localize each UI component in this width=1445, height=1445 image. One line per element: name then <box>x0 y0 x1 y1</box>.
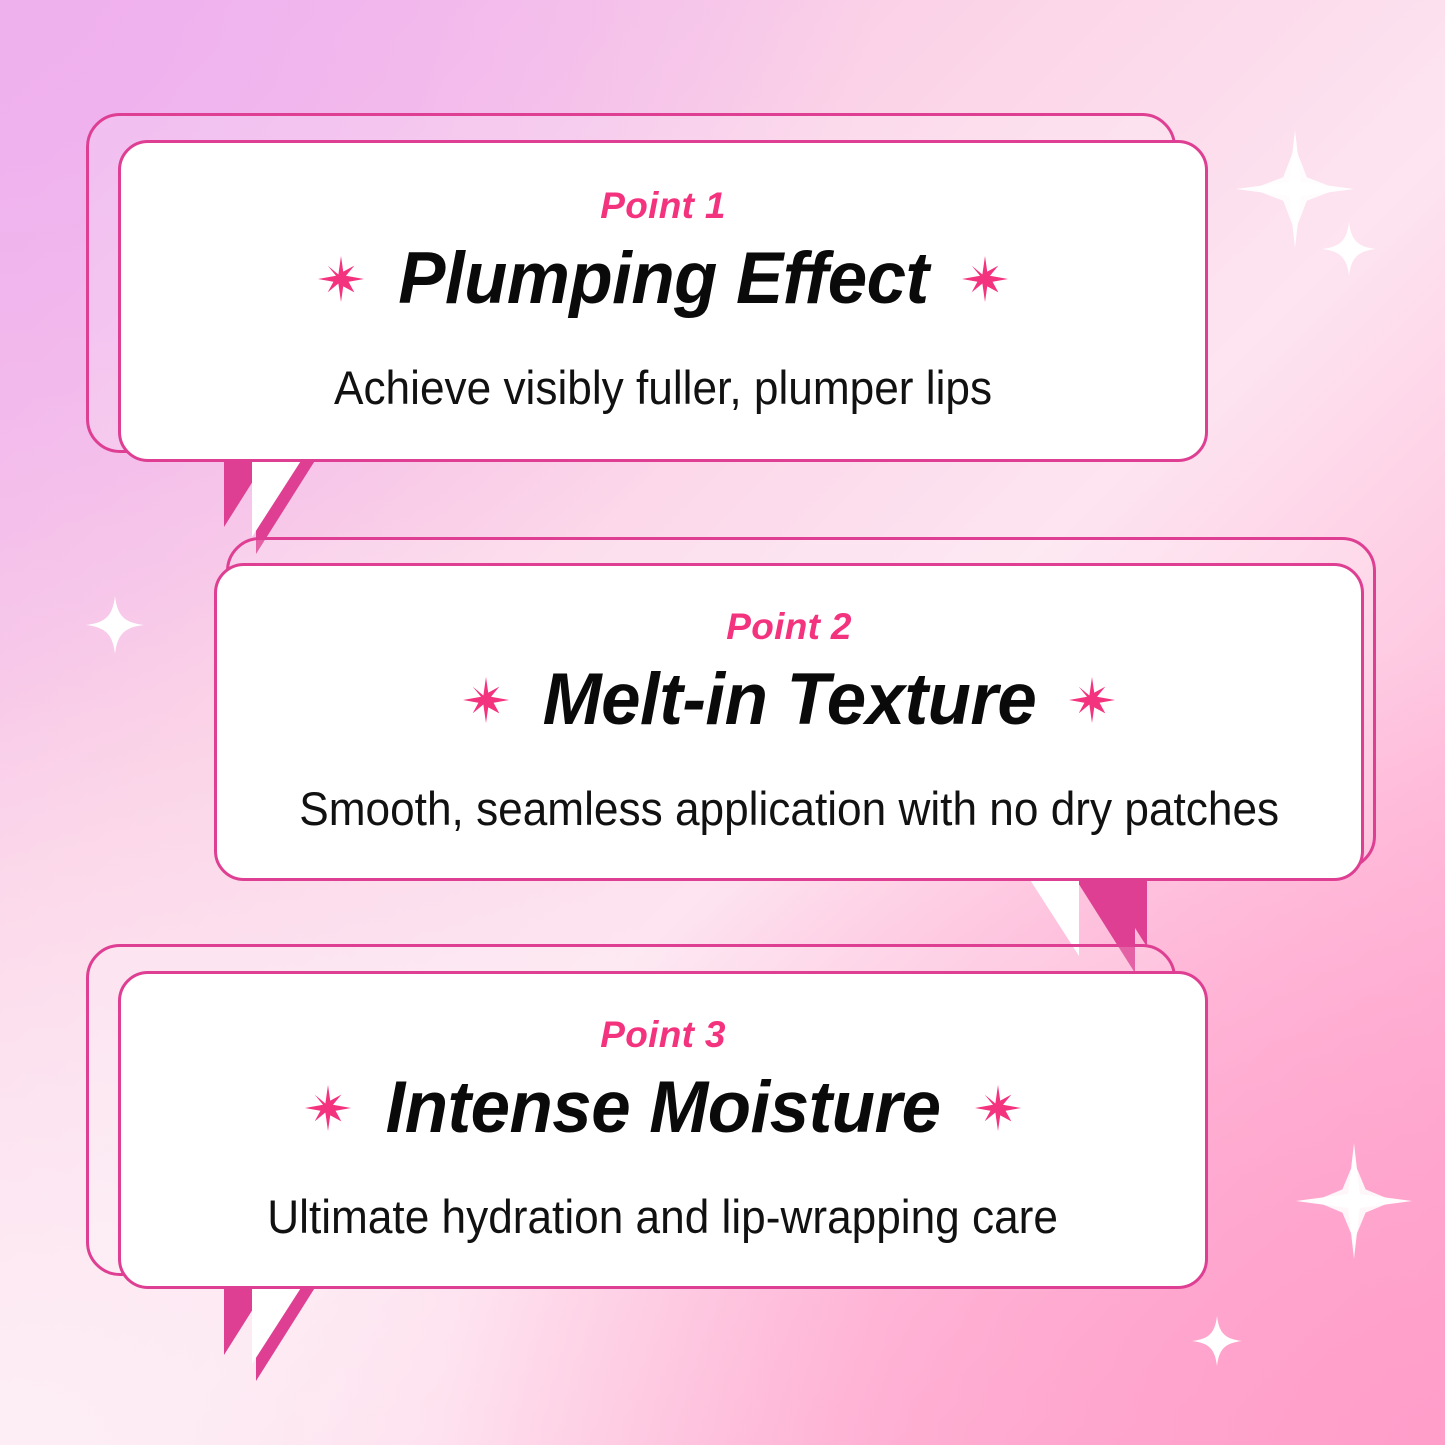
sparkle-icon <box>463 677 509 723</box>
card-2-headline-row: Melt-in Texture <box>463 662 1116 739</box>
sparkle-icon <box>975 1085 1021 1131</box>
card-1-body[interactable]: Point 1 Plumping Effect Achieve visibly … <box>118 140 1208 462</box>
card-3-headline: Intense Moisture <box>386 1070 941 1147</box>
card-3-point-label: Point 3 <box>600 1016 725 1053</box>
card-1-point-label: Point 1 <box>600 187 725 224</box>
sparkle-icon <box>305 1085 351 1131</box>
card-1-headline: Plumping Effect <box>398 241 928 318</box>
card-2-subline: Smooth, seamless application with no dry… <box>299 782 1279 836</box>
card-2-headline: Melt-in Texture <box>542 662 1036 739</box>
benefit-points-list: Point 1 Plumping Effect Achieve visibly … <box>0 0 1445 1445</box>
sparkle-icon <box>1069 677 1115 723</box>
card-3-subline: Ultimate hydration and lip-wrapping care <box>268 1190 1059 1244</box>
card-3-body[interactable]: Point 3 Intense Moisture Ultimate hydrat… <box>118 971 1208 1289</box>
card-3-tail-fill <box>252 1280 306 1364</box>
card-3-headline-row: Intense Moisture <box>305 1070 1021 1147</box>
sparkle-icon <box>318 256 364 302</box>
card-2-point-label: Point 2 <box>726 608 851 645</box>
card-1-subline: Achieve visibly fuller, plumper lips <box>334 361 992 415</box>
card-1-headline-row: Plumping Effect <box>318 241 1009 318</box>
sparkle-icon <box>962 256 1008 302</box>
card-1-tail-fill <box>252 453 306 537</box>
card-2-body[interactable]: Point 2 Melt-in Texture Smooth, seamless… <box>214 563 1364 881</box>
